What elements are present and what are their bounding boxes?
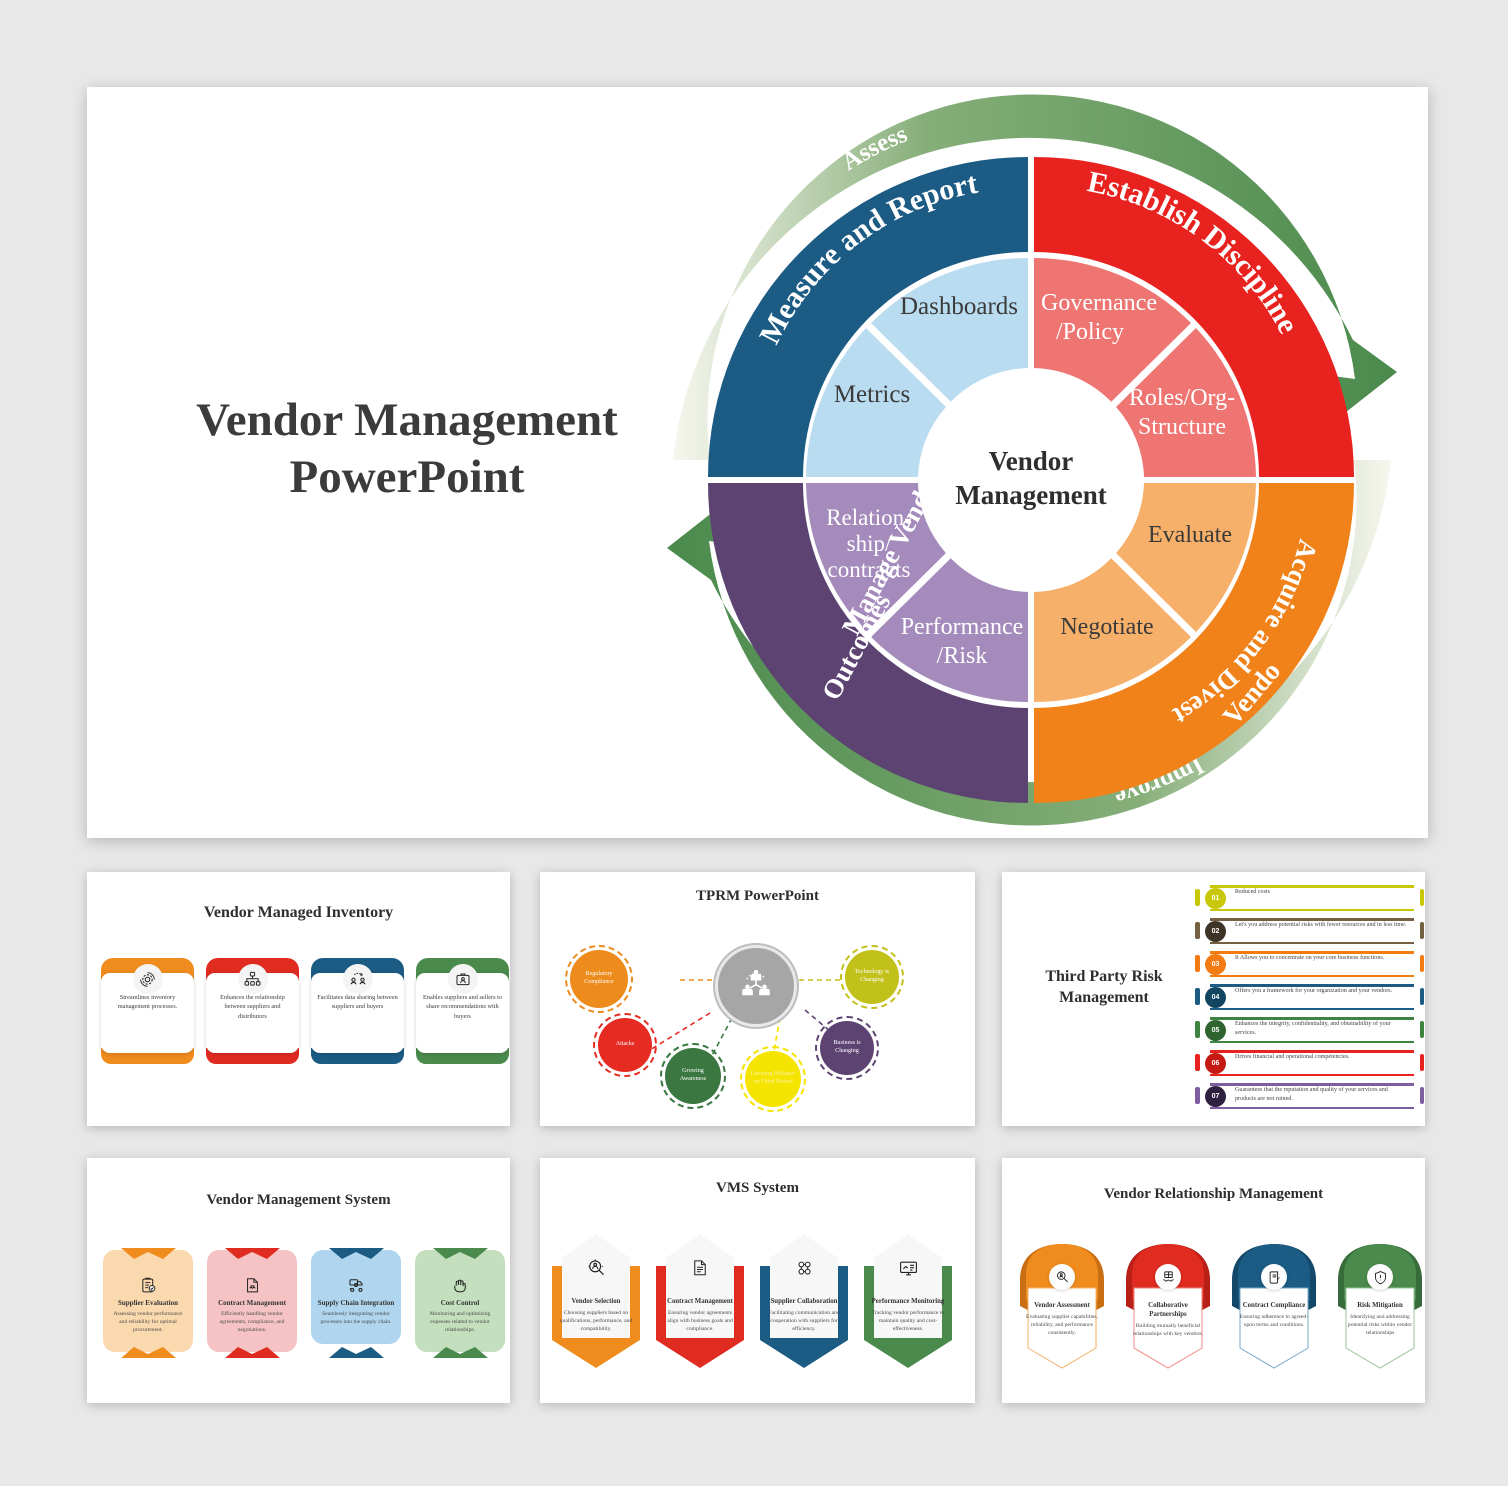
gear-network-icon (766, 1256, 842, 1280)
vms-heading: Performance Monitoring (870, 1298, 946, 1307)
svg-text:ship/: ship/ (847, 531, 892, 556)
tpr-row-text: Guarantees that the reputation and quali… (1235, 1086, 1410, 1104)
thumb-title-vms: VMS System (540, 1180, 975, 1197)
svg-text:Metrics: Metrics (834, 381, 910, 408)
svg-text:Relation-: Relation- (826, 505, 912, 530)
tprm-node-regulatory-compliance[interactable]: Regulatory Compliance (570, 950, 628, 1008)
vrm-card[interactable]: Collaborative Partnerships Building mutu… (1122, 1240, 1214, 1380)
vms-sys-heading: Supply Chain Integration (317, 1299, 395, 1308)
vms-sys-card[interactable]: Supply Chain Integration Seamlessly inte… (311, 1250, 401, 1352)
search-people-icon (558, 1256, 634, 1280)
vms-card[interactable]: Vendor Selection Choosing suppliers base… (552, 1228, 640, 1368)
tprm-node-attacks[interactable]: Attacks (598, 1018, 652, 1072)
org-chart-icon (238, 964, 268, 994)
arrow-bottom-icon (121, 1345, 176, 1356)
vms-heading: Supplier Collaboration (766, 1298, 842, 1307)
svg-text:/Policy: /Policy (1056, 319, 1124, 345)
tpr-row[interactable]: 07 Guarantees that the reputation and qu… (1192, 1080, 1424, 1112)
thumbnail-third-party-risk-management[interactable]: Third Party Risk Management 01 Reduced c… (1002, 872, 1425, 1126)
arrow-bottom-icon (225, 1345, 280, 1356)
scroll-pen-icon (1261, 1264, 1287, 1290)
thumbnail-vendor-relationship-management[interactable]: Vendor Relationship Management Vendor As… (1002, 1158, 1425, 1403)
vrm-text: Identifying and addressing potential ris… (1341, 1313, 1419, 1337)
tpr-row-number: 01 (1205, 888, 1226, 909)
vendor-management-wheel[interactable]: Assess Improve (637, 82, 1427, 842)
vms-sys-text: Seamlessly integrating vendor processes … (317, 1310, 395, 1326)
svg-text:Governance: Governance (1041, 290, 1157, 316)
briefcase-user-icon (448, 964, 478, 994)
vms-text: Ensuring vendor agreements align with bu… (662, 1309, 738, 1333)
vmi-card[interactable]: Enables suppliers and sellers to share r… (416, 958, 509, 1064)
tprm-node-label: Growing Awareness (665, 1068, 721, 1083)
thumbnail-tprm-powerpoint[interactable]: TPRM PowerPoint (540, 872, 975, 1126)
tprm-node-label: Growing Reliance on Third Parties (745, 1071, 801, 1086)
tpr-row[interactable]: 05 Enhances the integrity, confidentiali… (1192, 1014, 1424, 1046)
tpr-row-list: 01 Reduced costs 02 Let's you address po… (1192, 882, 1424, 1113)
supply-truck-icon (317, 1274, 395, 1296)
thumb-title-vrm: Vendor Relationship Management (1002, 1186, 1425, 1203)
tpr-row-text: Reduced costs (1235, 888, 1410, 897)
vms-sys-card[interactable]: Supplier Evaluation Assessing vendor per… (103, 1250, 193, 1352)
tpr-row-number: 04 (1205, 987, 1226, 1008)
tpr-row[interactable]: 02 Let's you address potential risks wit… (1192, 915, 1424, 947)
tpr-row-text: Offers you a framework for your organiza… (1235, 987, 1410, 996)
vms-text: Facilitating communication and cooperati… (766, 1309, 842, 1333)
vms-sys-text: Assessing vendor performance and reliabi… (109, 1310, 187, 1334)
tpr-title-line2: Management (1016, 988, 1192, 1009)
contract-handshake-icon (213, 1274, 291, 1296)
vms-sys-card[interactable]: Cost Control Monitoring and optimizing e… (415, 1250, 505, 1352)
shield-alert-icon (1367, 1264, 1393, 1290)
page-title-line2: PowerPoint (147, 449, 667, 506)
tprm-node-business-changing[interactable]: Business is Changing (820, 1021, 874, 1075)
vmi-card-row: Streamlines inventory management process… (101, 958, 509, 1064)
svg-text:contracts: contracts (827, 557, 910, 582)
vmi-card[interactable]: Enhances the relationship between suppli… (206, 958, 299, 1064)
vrm-card[interactable]: Vendor Assessment Evaluating supplier ca… (1016, 1240, 1108, 1380)
tprm-center-node[interactable] (715, 945, 797, 1027)
vrm-heading: Contract Compliance (1235, 1302, 1313, 1311)
tpr-row-text: Drives financial and operational compete… (1235, 1053, 1410, 1062)
svg-text:Vendor: Vendor (989, 446, 1074, 476)
thumbnail-vendor-managed-inventory[interactable]: Vendor Managed Inventory Streamlines inv… (87, 872, 510, 1126)
handshake-box-icon (1155, 1264, 1181, 1290)
vrm-card-row: Vendor Assessment Evaluating supplier ca… (1016, 1240, 1425, 1380)
tpr-title-line1: Third Party Risk (1016, 967, 1192, 988)
svg-text:Structure: Structure (1138, 414, 1226, 440)
arrow-top-icon (225, 1246, 280, 1257)
vms-card[interactable]: Performance Monitoring Tracking vendor p… (864, 1228, 952, 1368)
tprm-node-label: Business is Changing (820, 1040, 874, 1055)
arrow-bottom-icon (329, 1345, 384, 1356)
vms-card[interactable]: Supplier Collaboration Facilitating comm… (760, 1228, 848, 1368)
vrm-text: Evaluating supplier capabilities, reliab… (1023, 1313, 1101, 1337)
vendor-search-icon (1049, 1264, 1075, 1290)
arrow-bottom-icon (433, 1345, 488, 1356)
vms-card[interactable]: Contract Management Ensuring vendor agre… (656, 1228, 744, 1368)
vms-sys-heading: Supplier Evaluation (109, 1299, 187, 1308)
thumbnail-vendor-management-system[interactable]: Vendor Management System Supplier Evalua… (87, 1158, 510, 1403)
vrm-card[interactable]: Risk Mitigation Identifying and addressi… (1334, 1240, 1425, 1380)
vrm-heading: Risk Mitigation (1341, 1302, 1419, 1311)
vms-sys-text: Monitoring and optimizing expenses relat… (421, 1310, 499, 1334)
svg-text:Performance: Performance (901, 614, 1024, 640)
arrow-top-icon (433, 1246, 488, 1257)
thumb-title-tprm: TPRM PowerPoint (540, 888, 975, 905)
tpr-row-number: 06 (1205, 1053, 1226, 1074)
tpr-row-number: 07 (1205, 1086, 1226, 1107)
inner-label-metrics: Metrics (834, 381, 910, 408)
vms-heading: Vendor Selection (558, 1298, 634, 1307)
tprm-node-label: Attacks (616, 1041, 635, 1049)
cost-hands-icon (421, 1274, 499, 1296)
main-slide[interactable]: Vendor Management PowerPoint (87, 87, 1428, 838)
vms-card-row: Vendor Selection Choosing suppliers base… (552, 1228, 952, 1368)
gear-cycle-icon (133, 964, 163, 994)
tprm-diagram: Regulatory Compliance Technology is Chan… (540, 908, 975, 1123)
inner-label-evaluate: Evaluate (1148, 522, 1232, 548)
svg-text:Roles/Org-: Roles/Org- (1129, 385, 1235, 411)
vms-text: Choosing suppliers based on qualificatio… (558, 1309, 634, 1333)
tprm-node-growing-reliance[interactable]: Growing Reliance on Third Parties (745, 1051, 801, 1107)
thumb-title-vmi: Vendor Managed Inventory (87, 904, 510, 922)
vms-sys-card[interactable]: Contract Management Efficiently handling… (207, 1250, 297, 1352)
document-icon (662, 1256, 738, 1280)
inner-label-negotiate: Negotiate (1060, 614, 1153, 640)
vrm-heading: Collaborative Partnerships (1129, 1302, 1207, 1320)
vmi-card[interactable]: Streamlines inventory management process… (101, 958, 194, 1064)
vms-sys-text: Efficiently handling vendor agreements, … (213, 1310, 291, 1334)
page-title: Vendor Management PowerPoint (147, 392, 667, 507)
tpr-row-number: 02 (1205, 921, 1226, 942)
thumbnail-vms-system[interactable]: VMS System Vendor Selection Choosing sup… (540, 1158, 975, 1403)
data-share-icon (343, 964, 373, 994)
tpr-row[interactable]: 03 It Allows you to concentrate on your … (1192, 948, 1424, 980)
svg-text:/Risk: /Risk (937, 643, 988, 669)
inner-label-dashboards: Dashboards (900, 293, 1018, 320)
tpr-row[interactable]: 06 Drives financial and operational comp… (1192, 1047, 1424, 1079)
vrm-text: Building mutually beneficial relationshi… (1129, 1322, 1207, 1338)
tprm-node-technology-changing[interactable]: Technology is Changing (845, 950, 899, 1004)
tpr-row[interactable]: 04 Offers you a framework for your organ… (1192, 981, 1424, 1013)
people-network-icon (739, 967, 773, 1005)
vmi-card[interactable]: Facilitates data sharing between supplie… (311, 958, 404, 1064)
tpr-row-text: Enhances the integrity, confidentiality,… (1235, 1020, 1410, 1038)
tpr-row[interactable]: 01 Reduced costs (1192, 882, 1424, 914)
tprm-node-label: Regulatory Compliance (572, 971, 626, 986)
monitor-chart-icon (870, 1256, 946, 1280)
tprm-node-growing-awareness[interactable]: Growing Awareness (665, 1048, 721, 1104)
vms-sys-card-row: Supplier Evaluation Assessing vendor per… (103, 1250, 505, 1352)
vms-heading: Contract Management (662, 1298, 738, 1307)
arrow-top-icon (329, 1246, 384, 1257)
vms-text: Tracking vendor performance to maintain … (870, 1309, 946, 1333)
vrm-card[interactable]: Contract Compliance Ensuring adherence t… (1228, 1240, 1320, 1380)
svg-text:Management: Management (955, 480, 1106, 510)
tpr-row-text: Let's you address potential risks with f… (1235, 921, 1410, 930)
vrm-text: Ensuring adherence to agreed-upon terms … (1235, 1313, 1313, 1329)
svg-text:Dashboards: Dashboards (900, 293, 1018, 320)
tprm-node-label: Technology is Changing (845, 969, 899, 984)
thumb-title-vms-sys: Vendor Management System (87, 1192, 510, 1209)
tpr-row-text: It Allows you to concentrate on your cor… (1235, 954, 1410, 963)
thumb-title-third-party-risk: Third Party Risk Management (1016, 967, 1192, 1009)
svg-text:Negotiate: Negotiate (1060, 614, 1153, 640)
clipboard-check-icon (109, 1274, 187, 1296)
tpr-row-number: 03 (1205, 954, 1226, 975)
tpr-row-number: 05 (1205, 1020, 1226, 1041)
vrm-heading: Vendor Assessment (1023, 1302, 1101, 1311)
svg-text:Evaluate: Evaluate (1148, 522, 1232, 548)
vms-sys-heading: Cost Control (421, 1299, 499, 1308)
page-title-line1: Vendor Management (147, 392, 667, 449)
vms-sys-heading: Contract Management (213, 1299, 291, 1308)
arrow-top-icon (121, 1246, 176, 1257)
